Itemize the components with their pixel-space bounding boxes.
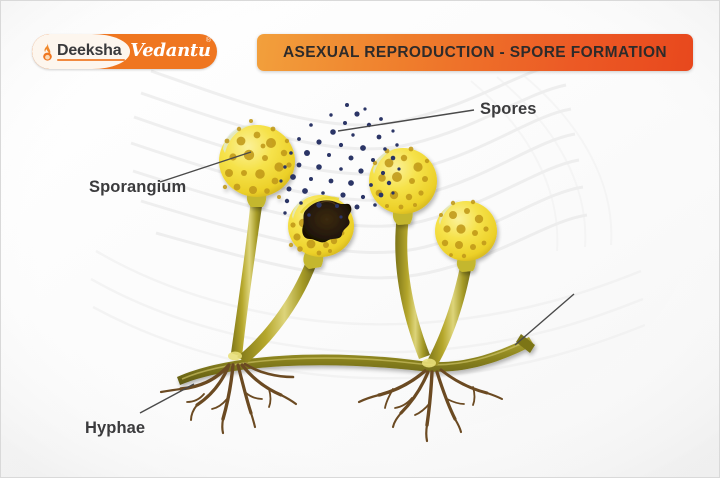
fungus-diagram — [1, 1, 720, 478]
sporangium-4 — [435, 200, 497, 272]
leader-line-hyphae-tip — [515, 294, 574, 345]
slide-canvas: Deeksha Vedantu ® ASEXUAL REPRODUCTION -… — [0, 0, 720, 478]
sporangium-3 — [369, 147, 437, 225]
label-spores: Spores — [480, 100, 537, 119]
rhizoid-cluster-right — [359, 370, 502, 441]
rhizoid-cluster-left — [161, 364, 296, 433]
sporangium-1 — [219, 119, 295, 207]
leader-line-hyphae — [140, 384, 194, 413]
label-sporangium: Sporangium — [89, 178, 186, 197]
label-hyphae: Hyphae — [85, 419, 145, 438]
